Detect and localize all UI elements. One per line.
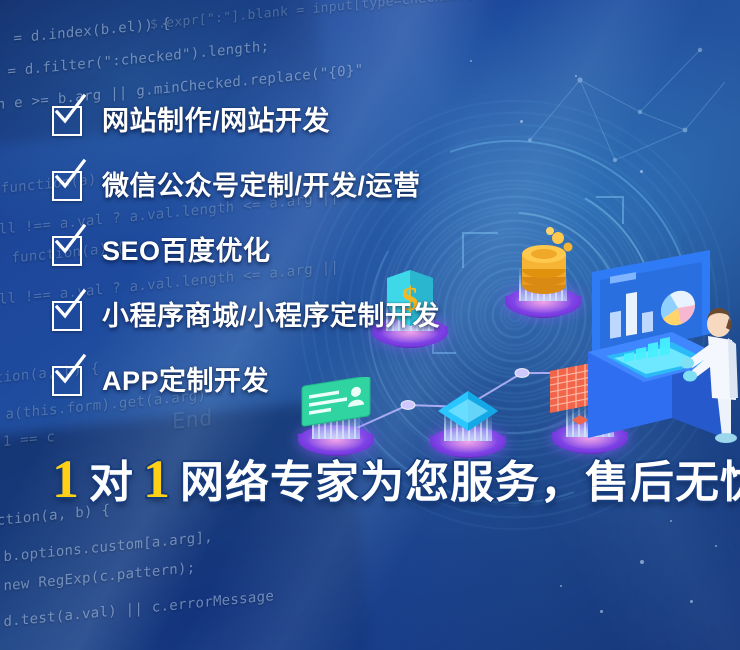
feature-list: 网站制作/网站开发 微信公众号定制/开发/运营 SEO百度优化 小程序商城/小程… (52, 102, 692, 427)
checked-checkbox-icon (52, 366, 82, 396)
checked-checkbox-icon (52, 236, 82, 266)
checked-checkbox-icon (52, 301, 82, 331)
feature-label: APP定制开发 (102, 368, 269, 395)
checked-checkbox-icon (52, 106, 82, 136)
feature-item[interactable]: 微信公众号定制/开发/运营 (52, 167, 692, 205)
feature-label: 微信公众号定制/开发/运营 (102, 173, 421, 200)
feature-label: SEO百度优化 (102, 238, 271, 265)
tagline-middle-word: 对 (83, 461, 139, 505)
tagline: 1 对 1 网络专家为您服务，售后无忧！ (48, 452, 740, 506)
promo-banner: $.expr[":"].blank = input[type=checkbox]… (0, 0, 740, 650)
feature-item[interactable]: 小程序商城/小程序定制开发 (52, 297, 692, 335)
tagline-number-two: 1 (139, 452, 174, 506)
feature-item[interactable]: 网站制作/网站开发 (52, 102, 692, 140)
checked-checkbox-icon (52, 171, 82, 201)
tagline-message: 网络专家为您服务，售后无忧！ (174, 461, 740, 505)
feature-item[interactable]: SEO百度优化 (52, 232, 692, 270)
feature-item[interactable]: APP定制开发 (52, 362, 692, 400)
feature-label: 小程序商城/小程序定制开发 (102, 303, 440, 330)
banner-content: 网站制作/网站开发 微信公众号定制/开发/运营 SEO百度优化 小程序商城/小程… (0, 0, 740, 650)
feature-label: 网站制作/网站开发 (102, 108, 330, 135)
tagline-number-one: 1 (48, 452, 83, 506)
